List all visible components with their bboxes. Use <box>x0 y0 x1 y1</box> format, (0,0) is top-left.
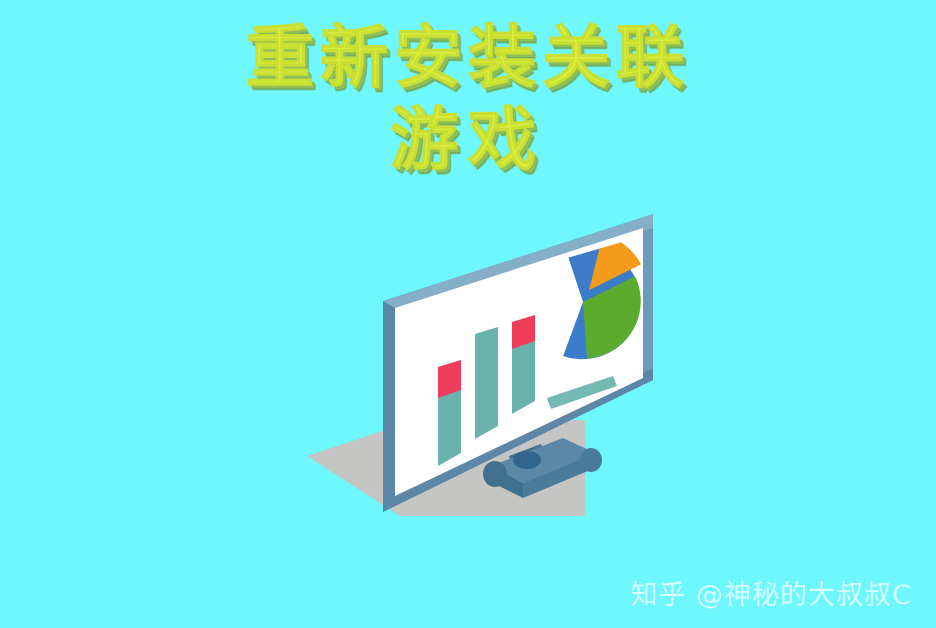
title-line-1: 重新安装关联 <box>0 18 936 100</box>
monitor-stand-hinge <box>513 451 541 469</box>
monitor-bezel-left-shade <box>383 301 395 512</box>
bar-chart-bar-2 <box>475 327 498 439</box>
poster-canvas: 重新安装关联 游戏 <box>0 0 936 628</box>
bar-chart-bar-3 <box>512 315 535 414</box>
page-title: 重新安装关联 游戏 <box>0 18 936 182</box>
bar-chart-bar-1 <box>438 360 461 466</box>
monitor-stand-base-cap-right <box>580 448 602 472</box>
title-line-2: 游戏 <box>0 100 936 182</box>
bar-2-base <box>475 327 498 439</box>
monitor-stand-base-cap-left <box>483 461 507 487</box>
monitor-illustration <box>295 198 695 558</box>
watermark-text: 知乎 @神秘的大叔叔C <box>631 573 912 612</box>
